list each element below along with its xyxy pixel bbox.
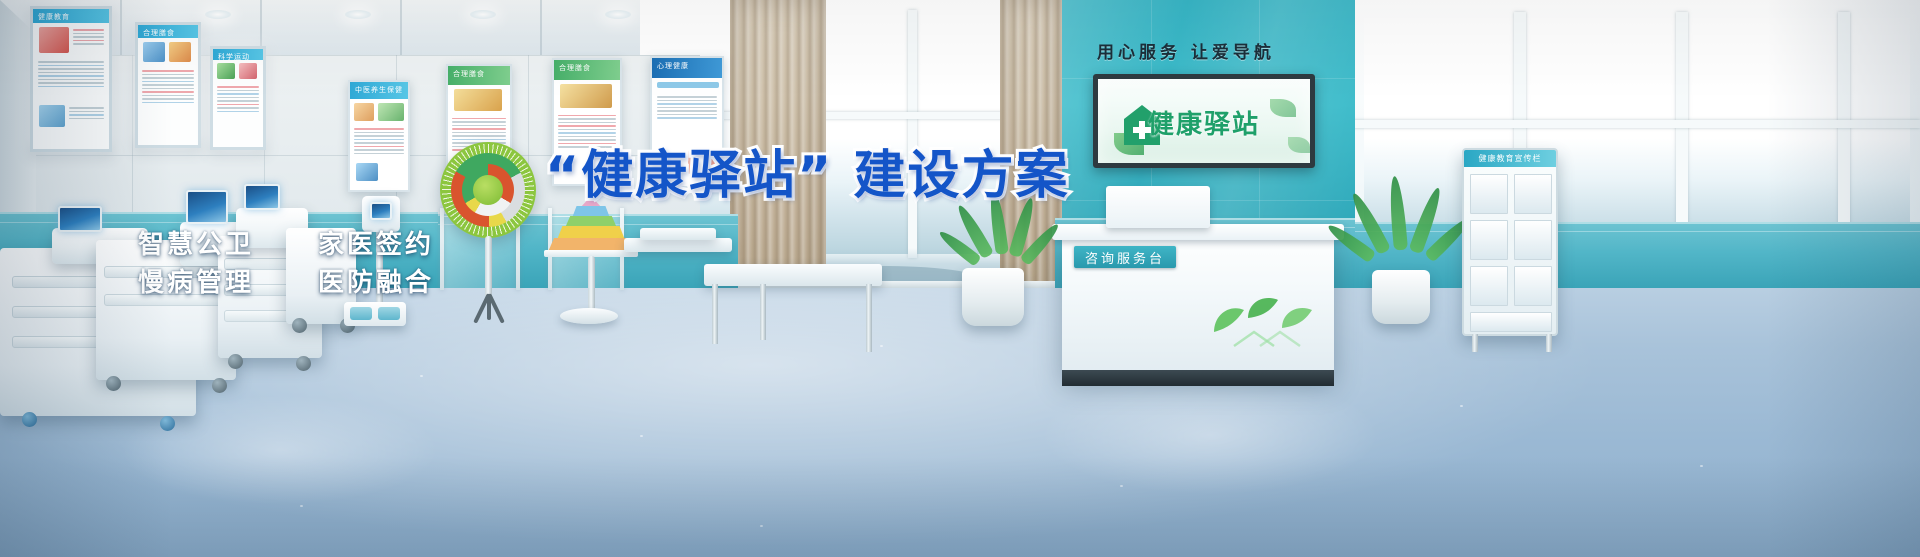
reception-desk-sign-label: 咨询服务台: [1085, 248, 1165, 267]
ceiling-light: [470, 10, 496, 19]
lightbox-poster: 合理膳食: [135, 22, 201, 148]
poster-title: 合理膳食: [554, 60, 620, 73]
feature-row-2: 慢病管理 医防融合: [138, 262, 434, 299]
poster-title: 合理膳食: [138, 25, 198, 38]
ceiling-light: [345, 10, 371, 19]
kiosk-screen: [58, 206, 102, 232]
poster-title: 合理膳食: [448, 66, 510, 79]
weight-scale: [344, 302, 406, 326]
rack-title-label: 健康教育宣传栏: [1479, 153, 1542, 164]
health-station-banner: 用心服务 让爱导航 健康驿站: [0, 0, 1920, 557]
feature-label-chronic-disease: 慢病管理: [138, 262, 254, 299]
wall-slogan: 用心服务 让爱导航: [1097, 38, 1275, 63]
exam-table-surface: [640, 228, 716, 240]
poster-title: 心理健康: [652, 58, 722, 71]
banner-main-title: “健康驿站” 建设方案: [545, 150, 1065, 202]
analyzer-screen: [370, 202, 392, 220]
plant-pot: [962, 268, 1024, 326]
lightbox-poster: 科学运动: [210, 46, 266, 150]
ceiling-light: [205, 10, 231, 19]
feature-label-prevention-integration: 医防融合: [318, 262, 434, 299]
table-leg: [760, 284, 766, 340]
exam-table: [624, 238, 732, 252]
wheel-stand-pole: [485, 236, 492, 298]
feature-row-1: 智慧公卫 家医签约: [138, 224, 434, 261]
wall-poster: 中医养生保健: [348, 80, 410, 192]
rack-leg: [1472, 334, 1478, 352]
feature-label-smart-public-health: 智慧公卫: [138, 224, 254, 261]
feature-label-family-doctor: 家医签约: [318, 224, 434, 261]
kiosk-screen: [244, 184, 280, 210]
table-leg: [712, 284, 718, 344]
wall-display-screen: 健康驿站: [1093, 74, 1315, 168]
poster-title: 健康教育: [33, 9, 109, 22]
reception-desk-riser: [1106, 186, 1210, 228]
wall-slogan-text: 用心服务 让爱导航: [1097, 43, 1275, 63]
cart-caster: [228, 354, 243, 369]
glass-partition-post: [440, 208, 444, 290]
lightbox-poster: 健康教育: [30, 6, 112, 152]
rack-leg: [1546, 334, 1552, 352]
pyramid-stand-base: [560, 308, 618, 324]
ceiling-light: [605, 10, 631, 19]
poster-title: 中医养生保健: [350, 82, 408, 95]
tripod-leg: [487, 294, 491, 320]
exam-bench: [704, 264, 882, 286]
rack-title: 健康教育宣传栏: [1464, 150, 1556, 167]
leaf-logo-icon: [1196, 288, 1326, 350]
cart-caster: [212, 378, 227, 393]
table-leg: [866, 284, 872, 352]
screen-brand-text: 健康驿站: [1098, 104, 1310, 141]
reception-desk-sign: 咨询服务台: [1074, 246, 1176, 268]
reception-desk-base: [1062, 370, 1334, 386]
cart-caster: [296, 356, 311, 371]
nutrition-wheel: [440, 142, 536, 238]
cart-caster: [160, 416, 175, 431]
pyramid-stand-pole: [588, 256, 595, 314]
plant-pot: [1372, 270, 1430, 324]
brochure-rack: 健康教育宣传栏: [1462, 148, 1558, 336]
kiosk-screen: [186, 190, 228, 224]
cart-caster: [22, 412, 37, 427]
cart-caster: [292, 318, 307, 333]
cart-caster: [106, 376, 121, 391]
banner-title-block: “健康驿站” 建设方案: [545, 150, 1065, 202]
